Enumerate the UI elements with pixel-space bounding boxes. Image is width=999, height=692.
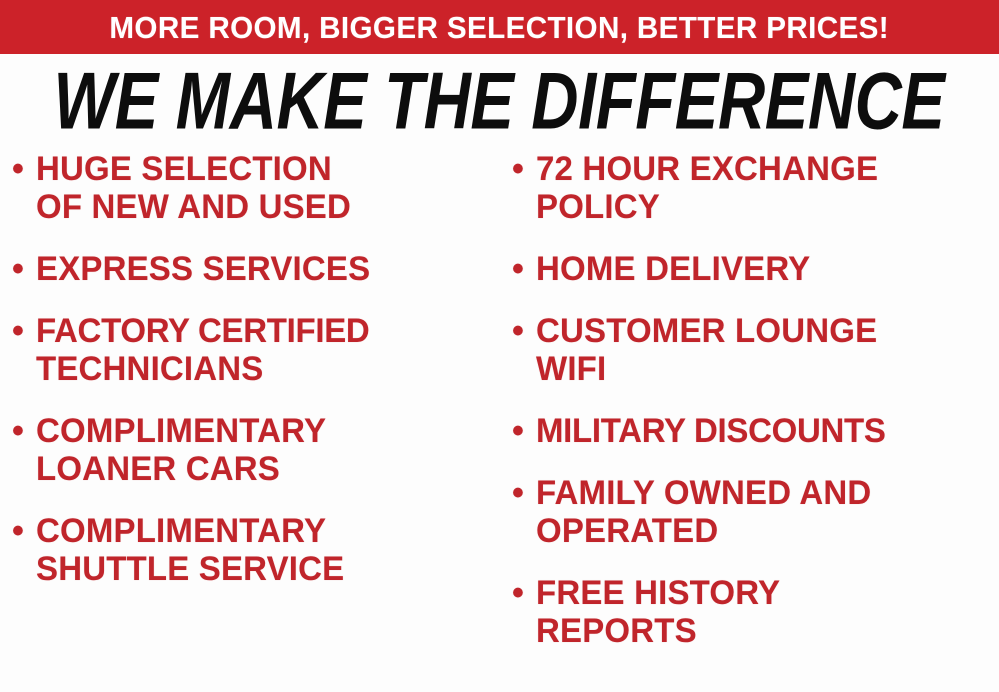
list-item-line: COMPLIMENTARY bbox=[36, 512, 478, 550]
list-item: •MILITARY DISCOUNTS bbox=[512, 412, 999, 450]
list-item-line: FAMILY OWNED AND bbox=[536, 474, 985, 512]
list-item-text: HOME DELIVERY bbox=[536, 250, 999, 288]
list-item-line: POLICY bbox=[536, 188, 985, 226]
list-item-line: OPERATED bbox=[536, 512, 985, 550]
bullet-dot-icon: • bbox=[512, 150, 536, 188]
banner-headline-text: MORE ROOM, BIGGER SELECTION, BETTER PRIC… bbox=[110, 12, 890, 43]
list-item-line: HOME DELIVERY bbox=[536, 250, 985, 288]
list-item: •HUGE SELECTIONOF NEW AND USED bbox=[12, 150, 492, 226]
top-banner: MORE ROOM, BIGGER SELECTION, BETTER PRIC… bbox=[0, 0, 999, 54]
benefits-column-right: •72 HOUR EXCHANGEPOLICY•HOME DELIVERY•CU… bbox=[512, 150, 999, 674]
list-item: •FAMILY OWNED ANDOPERATED bbox=[512, 474, 999, 550]
list-item-line: COMPLIMENTARY bbox=[36, 412, 478, 450]
list-item-line: CUSTOMER LOUNGE bbox=[536, 312, 985, 350]
list-item-line: REPORTS bbox=[536, 612, 985, 650]
benefits-column-left: •HUGE SELECTIONOF NEW AND USED•EXPRESS S… bbox=[12, 150, 492, 612]
list-item-text: FREE HISTORYREPORTS bbox=[536, 574, 999, 650]
list-item: •FACTORY CERTIFIEDTECHNICIANS bbox=[12, 312, 492, 388]
list-item-text: COMPLIMENTARYSHUTTLE SERVICE bbox=[36, 512, 492, 588]
bullet-dot-icon: • bbox=[12, 512, 36, 550]
list-item-text: MILITARY DISCOUNTS bbox=[536, 412, 999, 450]
bullet-dot-icon: • bbox=[512, 574, 536, 612]
list-item-line: MILITARY DISCOUNTS bbox=[536, 412, 985, 450]
list-item-line: OF NEW AND USED bbox=[36, 188, 478, 226]
bullet-dot-icon: • bbox=[512, 412, 536, 450]
list-item: •HOME DELIVERY bbox=[512, 250, 999, 288]
list-item-text: CUSTOMER LOUNGEWIFI bbox=[536, 312, 999, 388]
benefits-columns: •HUGE SELECTIONOF NEW AND USED•EXPRESS S… bbox=[0, 150, 999, 692]
list-item-line: WIFI bbox=[536, 350, 985, 388]
list-item-line: LOANER CARS bbox=[36, 450, 478, 488]
list-item-line: HUGE SELECTION bbox=[36, 150, 478, 188]
list-item-text: EXPRESS SERVICES bbox=[36, 250, 492, 288]
list-item: •EXPRESS SERVICES bbox=[12, 250, 492, 288]
list-item: •COMPLIMENTARYLOANER CARS bbox=[12, 412, 492, 488]
list-item-text: HUGE SELECTIONOF NEW AND USED bbox=[36, 150, 492, 226]
list-item: •CUSTOMER LOUNGEWIFI bbox=[512, 312, 999, 388]
bullet-dot-icon: • bbox=[12, 250, 36, 288]
bullet-dot-icon: • bbox=[512, 250, 536, 288]
list-item-text: FAMILY OWNED ANDOPERATED bbox=[536, 474, 999, 550]
list-item-line: EXPRESS SERVICES bbox=[36, 250, 478, 288]
list-item-text: 72 HOUR EXCHANGEPOLICY bbox=[536, 150, 999, 226]
page-title: WE MAKE THE DIFFERENCE bbox=[54, 62, 945, 143]
list-item-line: FACTORY CERTIFIED bbox=[36, 312, 478, 350]
list-item-line: TECHNICIANS bbox=[36, 350, 478, 388]
list-item-line: SHUTTLE SERVICE bbox=[36, 550, 478, 588]
list-item-line: FREE HISTORY bbox=[536, 574, 985, 612]
bullet-dot-icon: • bbox=[12, 312, 36, 350]
list-item: •FREE HISTORYREPORTS bbox=[512, 574, 999, 650]
list-item: •COMPLIMENTARYSHUTTLE SERVICE bbox=[12, 512, 492, 588]
bullet-dot-icon: • bbox=[512, 474, 536, 512]
bullet-dot-icon: • bbox=[12, 150, 36, 188]
list-item: •72 HOUR EXCHANGEPOLICY bbox=[512, 150, 999, 226]
list-item-text: FACTORY CERTIFIEDTECHNICIANS bbox=[36, 312, 492, 388]
bullet-dot-icon: • bbox=[512, 312, 536, 350]
bullet-dot-icon: • bbox=[12, 412, 36, 450]
promo-poster: MORE ROOM, BIGGER SELECTION, BETTER PRIC… bbox=[0, 0, 999, 692]
list-item-line: 72 HOUR EXCHANGE bbox=[536, 150, 985, 188]
list-item-text: COMPLIMENTARYLOANER CARS bbox=[36, 412, 492, 488]
headline-container: WE MAKE THE DIFFERENCE bbox=[0, 62, 999, 142]
